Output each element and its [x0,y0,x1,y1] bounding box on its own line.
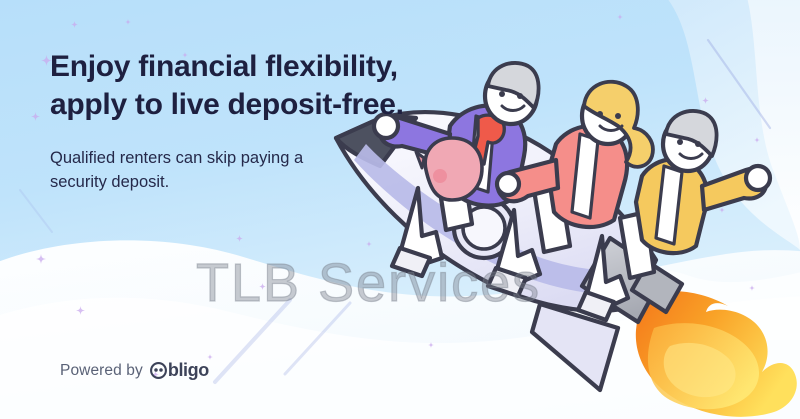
page-subtitle: Qualified renters can skip paying a secu… [50,146,470,196]
obligo-logo[interactable]: bligo [150,360,209,381]
obligo-o-mark [150,362,167,379]
sparkle-icon [236,235,243,242]
powered-by-label: Powered by [60,362,143,380]
powered-by-footer: Powered by bligo [60,360,209,381]
page-title: Enjoy financial flexibility, apply to li… [50,48,470,124]
sparkle-icon [31,112,40,121]
sparkle-icon [36,254,46,264]
sparkle-icon [76,306,85,315]
sparkle-icon [617,14,623,20]
promo-banner: Enjoy financial flexibility, apply to li… [0,0,800,419]
sparkle-icon [71,21,78,28]
sparkle-icon [259,283,266,290]
sparkle-icon [125,19,131,25]
obligo-wordmark: bligo [168,360,209,381]
copy-block: Enjoy financial flexibility, apply to li… [50,48,470,195]
